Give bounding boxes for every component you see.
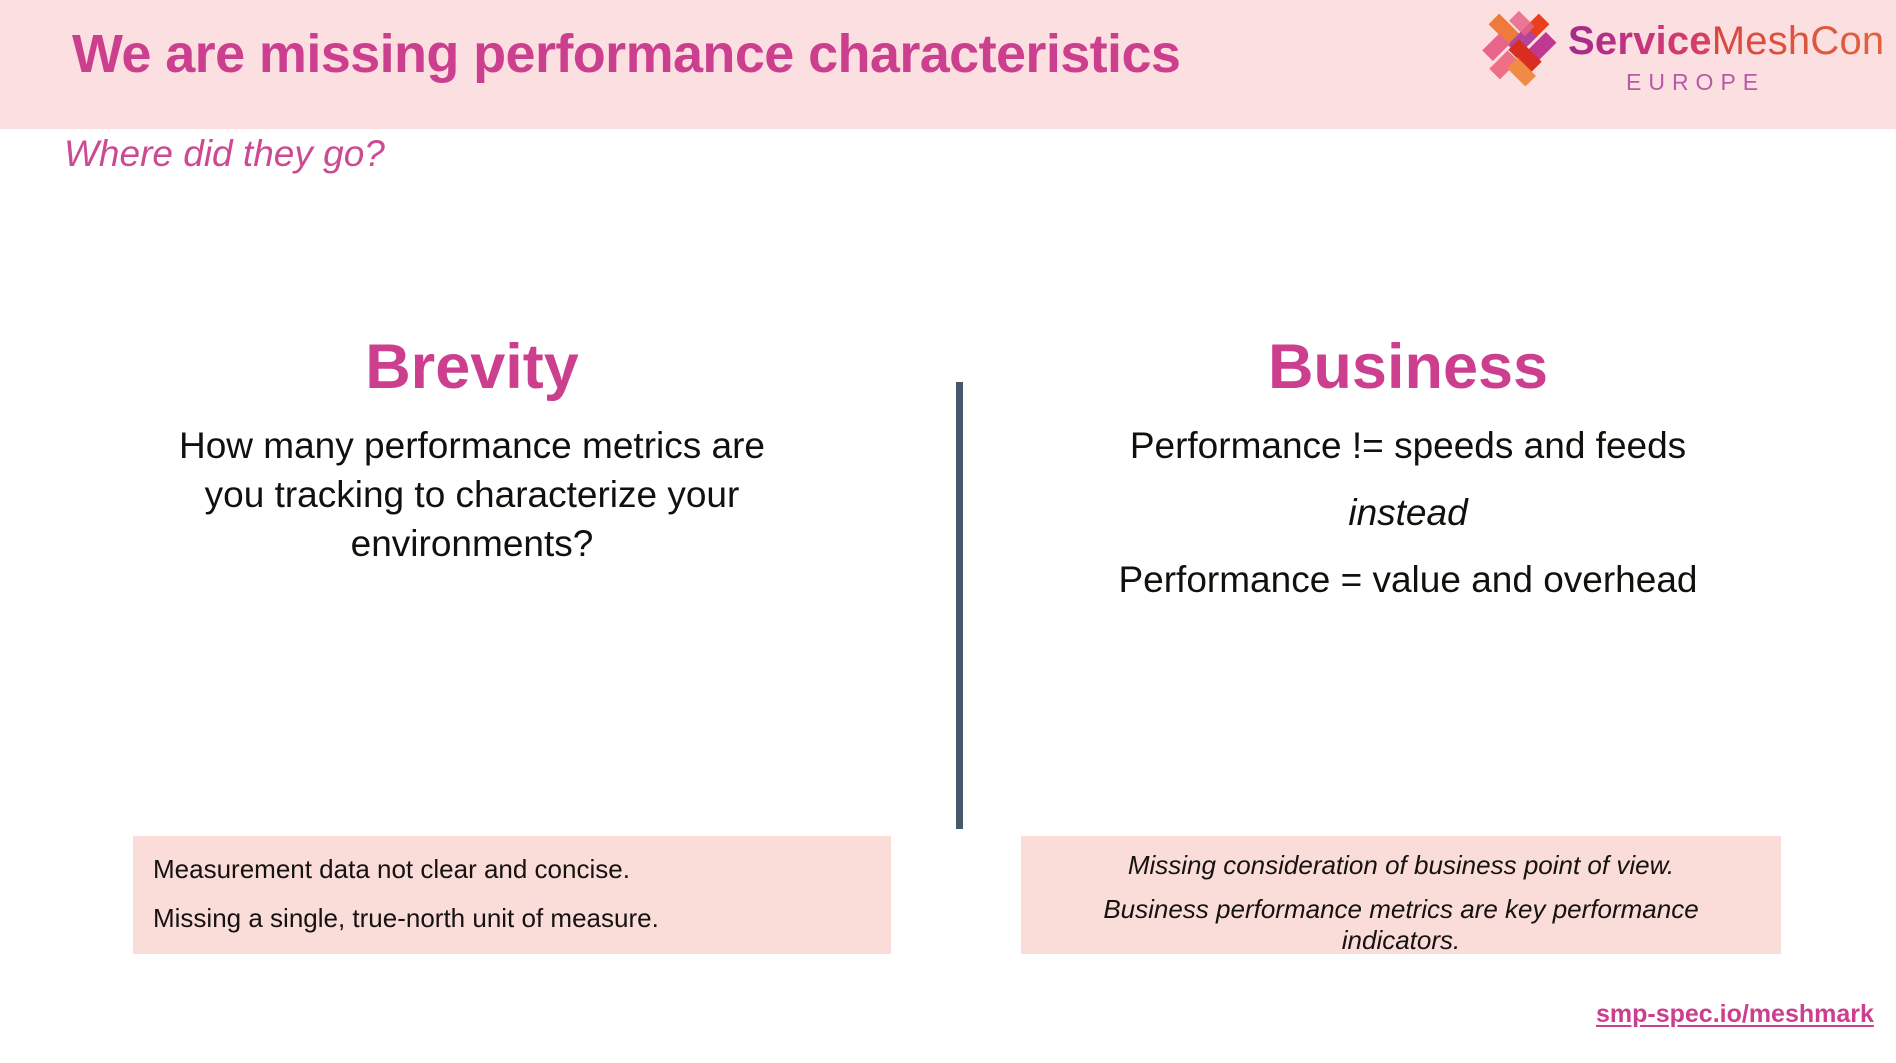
body-line: How many performance metrics are [108, 422, 836, 471]
body-line: Performance = value and overhead [1000, 556, 1816, 605]
body-line: Performance != speeds and feeds [1000, 422, 1816, 471]
callout-line: Missing a single, true-north unit of mea… [153, 903, 871, 935]
logo-region-label: EUROPE [1626, 69, 1765, 96]
slide: We are missing performance characteristi… [0, 0, 1896, 1063]
callout-brevity: Measurement data not clear and concise. … [133, 836, 891, 954]
meshmark-spec-link[interactable]: smp-spec.io/meshmark [1596, 1000, 1874, 1029]
column-business: Business Performance != speeds and feeds… [1000, 330, 1816, 605]
column-heading-business: Business [1000, 330, 1816, 404]
slide-subtitle: Where did they go? [64, 133, 385, 175]
servicemeshcon-mark-icon [1478, 8, 1560, 90]
column-body-business: Performance != speeds and feeds instead … [1000, 422, 1816, 604]
callout-line: Missing consideration of business point … [1047, 850, 1755, 882]
logo-wordmark-service: Service [1568, 19, 1712, 63]
body-line: you tracking to characterize your [108, 471, 836, 520]
callout-line: Business performance metrics are key per… [1047, 894, 1755, 957]
body-line: instead [1000, 489, 1816, 538]
column-heading-brevity: Brevity [108, 330, 836, 404]
callout-line: Measurement data not clear and concise. [153, 854, 871, 886]
page-title: We are missing performance characteristi… [72, 21, 1452, 89]
logo-wordmark-meshcon: MeshCon [1712, 19, 1885, 63]
column-brevity: Brevity How many performance metrics are… [108, 330, 836, 569]
logo-wordmark: ServiceMeshCon [1568, 19, 1884, 64]
body-line: environments? [108, 520, 836, 569]
servicemeshcon-logo: ServiceMeshCon EUROPE [1478, 6, 1882, 122]
callout-business: Missing consideration of business point … [1021, 836, 1781, 954]
column-divider [956, 382, 963, 829]
column-body-brevity: How many performance metrics are you tra… [108, 422, 836, 568]
